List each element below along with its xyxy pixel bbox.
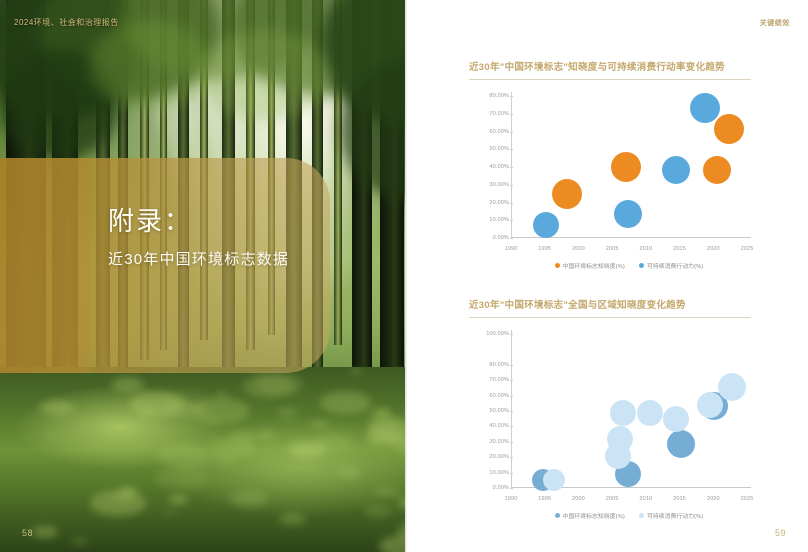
legend-item[interactable]: 可持续消费行动力(%) <box>639 511 704 520</box>
y-axis-tick: 0.00% <box>469 235 509 241</box>
document-header-left: 2024环境、社会和治理报告 <box>14 17 119 28</box>
x-axis-tick: 2010 <box>639 246 652 252</box>
chart-bubble <box>663 406 689 432</box>
moss-highlight <box>192 398 249 424</box>
y-axis-tick: 10.00% <box>469 470 509 476</box>
y-axis-tick: 30.00% <box>469 182 509 188</box>
moss-highlight <box>337 467 361 478</box>
moss-highlight <box>313 433 353 451</box>
chart-bubble <box>690 93 720 123</box>
chart-bubble <box>667 430 695 458</box>
foliage-blob <box>200 30 330 120</box>
legend-label: 可持续消费行动力(%) <box>647 261 704 270</box>
page-title: 附录： <box>108 205 348 238</box>
moss-highlight <box>351 369 362 374</box>
moss-highlight <box>155 467 207 490</box>
chart-block-awareness-vs-action: 近30年"中国环境标志"知晓度与可持续消费行动率变化趋势 0.00%10.00%… <box>469 59 789 270</box>
moss-highlight <box>162 509 176 515</box>
legend-item[interactable]: 中国环境标志知晓度(%) <box>555 261 625 270</box>
moss-highlight <box>90 490 146 515</box>
x-axis-tick: 2005 <box>606 496 619 502</box>
document-header-right: 关键绩效 <box>760 18 790 28</box>
page-subtitle: 近30年中国环境标志数据 <box>108 248 348 269</box>
moss-highlight <box>231 430 257 442</box>
chart-bubble <box>714 114 744 144</box>
x-axis-tick: 1990 <box>505 496 518 502</box>
chart-bubble <box>697 392 723 418</box>
page-number-right: 59 <box>775 528 786 538</box>
right-page: 关键绩效 近30年"中国环境标志"知晓度与可持续消费行动率变化趋势 0.00%1… <box>407 0 808 552</box>
chart-bubble <box>610 400 636 426</box>
y-axis-tick: 100.00% <box>469 331 509 337</box>
moss-highlight <box>277 408 297 417</box>
y-axis-tick: 50.00% <box>469 408 509 414</box>
legend-label: 中国环境标志知晓度(%) <box>563 511 625 520</box>
moss-highlight <box>279 513 305 525</box>
moss-highlight <box>255 373 303 395</box>
moss-highlight <box>320 391 371 414</box>
moss-highlight <box>72 537 88 544</box>
x-axis-tick: 2005 <box>606 246 619 252</box>
chart-legend-2: 中国环境标志知晓度(%)可持续消费行动力(%) <box>469 511 789 520</box>
legend-label: 中国环境标志知晓度(%) <box>563 261 625 270</box>
moss-highlight <box>111 377 144 392</box>
y-axis-tick: 80.00% <box>469 362 509 368</box>
legend-label: 可持续消费行动力(%) <box>647 511 704 520</box>
x-axis-tick: 2020 <box>707 496 720 502</box>
left-page: 附录： 近30年中国环境标志数据 2024环境、社会和治理报告 58 <box>0 0 405 552</box>
moss-highlight <box>45 432 58 438</box>
chart-title-2: 近30年"中国环境标志"全国与区域知晓度变化趋势 <box>469 297 789 311</box>
y-axis-tick: 0.00% <box>469 485 509 491</box>
y-axis-2 <box>511 330 512 488</box>
moss-highlight <box>366 418 401 434</box>
legend-color-dot <box>639 263 644 268</box>
chart-bubble <box>607 426 633 452</box>
moss-highlight <box>32 526 57 537</box>
chart-bubble <box>718 373 746 401</box>
chart-block-national-vs-regional: 近30年"中国环境标志"全国与区域知晓度变化趋势 0.00%10.00%20.0… <box>469 297 789 520</box>
moss-highlight <box>378 410 389 415</box>
moss-highlight <box>230 490 267 507</box>
x-axis-tick: 1995 <box>538 246 551 252</box>
y-axis-tick: 60.00% <box>469 129 509 135</box>
chart-bubble <box>662 156 690 184</box>
x-axis-tick: 2015 <box>673 496 686 502</box>
chart-title-1: 近30年"中国环境标志"知晓度与可持续消费行动率变化趋势 <box>469 59 789 73</box>
legend-item[interactable]: 可持续消费行动力(%) <box>639 261 704 270</box>
y-axis-tick: 50.00% <box>469 146 509 152</box>
moss-highlight <box>40 400 74 415</box>
foliage-blob <box>90 20 210 110</box>
forest-floor <box>0 367 405 552</box>
x-axis-tick: 2000 <box>572 496 585 502</box>
y-axis-tick: 20.00% <box>469 454 509 460</box>
y-axis-tick: 30.00% <box>469 439 509 445</box>
moss-highlight <box>364 505 392 518</box>
moss-highlight <box>169 495 189 504</box>
x-axis-tick: 2025 <box>741 496 754 502</box>
page-spread: 附录： 近30年中国环境标志数据 2024环境、社会和治理报告 58 关键绩效 … <box>0 0 808 552</box>
legend-color-dot <box>555 263 560 268</box>
moss-highlight <box>374 487 399 498</box>
chart-title-rule-2 <box>469 317 751 318</box>
x-axis-tick: 2010 <box>639 496 652 502</box>
chart-bubble <box>637 400 663 426</box>
y-axis-tick: 40.00% <box>469 423 509 429</box>
legend-color-dot <box>639 513 644 518</box>
x-axis-tick: 1995 <box>538 496 551 502</box>
y-axis-tick: 20.00% <box>469 200 509 206</box>
y-axis-tick: 40.00% <box>469 164 509 170</box>
moss-highlight <box>257 431 275 439</box>
appendix-text-block: 附录： 近30年中国环境标志数据 <box>108 205 348 269</box>
moss-highlight <box>310 420 328 428</box>
x-axis-tick: 2025 <box>741 246 754 252</box>
y-axis-tick: 70.00% <box>469 111 509 117</box>
x-axis-tick: 1990 <box>505 246 518 252</box>
y-axis-tick: 10.00% <box>469 217 509 223</box>
chart-bubble <box>614 200 642 228</box>
x-axis-tick: 2020 <box>707 246 720 252</box>
chart-title-rule-1 <box>469 79 751 80</box>
chart-bubble <box>703 156 731 184</box>
chart-plot-area-2: 0.00%10.00%20.00%30.00%40.00%50.00%60.00… <box>469 330 751 502</box>
moss-highlights <box>0 367 405 552</box>
y-axis-tick: 70.00% <box>469 377 509 383</box>
moss-highlight <box>245 448 256 453</box>
chart-legend-1: 中国环境标志知晓度(%)可持续消费行动力(%) <box>469 261 789 270</box>
moss-highlight <box>398 496 405 510</box>
page-number-left: 58 <box>22 528 33 538</box>
legend-color-dot <box>555 513 560 518</box>
y-axis-tick: 80.00% <box>469 93 509 99</box>
x-axis-tick: 2015 <box>673 246 686 252</box>
chart-bubble <box>552 179 582 209</box>
chart-bubble <box>533 212 559 238</box>
chart-bubble <box>543 469 565 491</box>
moss-highlight <box>158 444 211 468</box>
y-axis-tick: 60.00% <box>469 393 509 399</box>
moss-highlight <box>213 454 237 465</box>
moss-highlight <box>129 391 184 416</box>
chart-bubble <box>611 152 641 182</box>
legend-item[interactable]: 中国环境标志知晓度(%) <box>555 511 625 520</box>
x-axis-tick: 2000 <box>572 246 585 252</box>
chart-plot-area-1: 0.00%10.00%20.00%30.00%40.00%50.00%60.00… <box>469 92 751 252</box>
